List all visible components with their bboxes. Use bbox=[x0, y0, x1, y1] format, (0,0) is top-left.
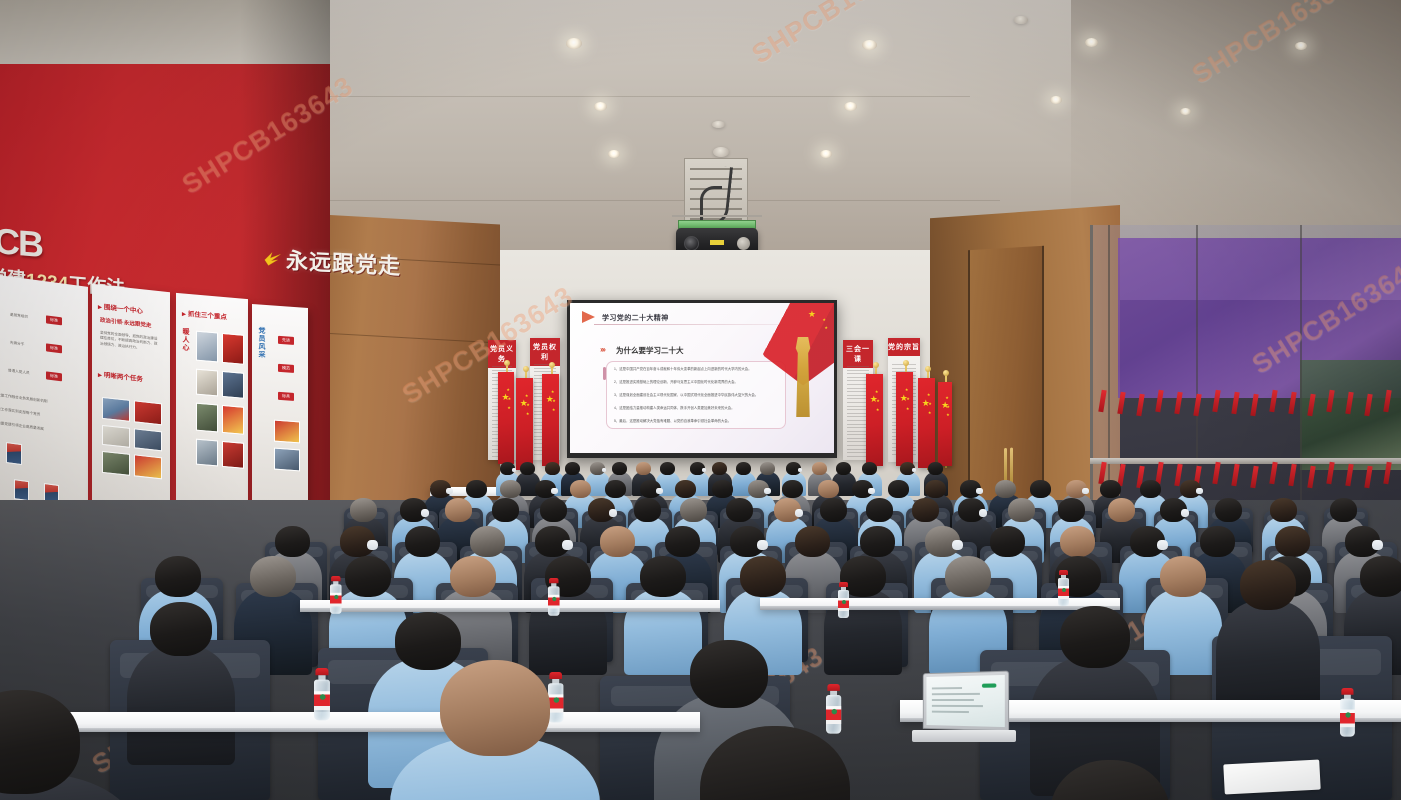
face-mask-icon bbox=[656, 488, 662, 494]
glass-handrail bbox=[1090, 458, 1401, 464]
board-members: 党员风采 先进 模范 标兵 bbox=[252, 304, 308, 516]
slide-title: 学习党的二十大精神 bbox=[602, 313, 669, 323]
flag-star-icon: ★ bbox=[906, 396, 910, 401]
person-head bbox=[605, 480, 626, 498]
board-1234-criteria: 标准 标准 标准 基层党组织 先锋分子 普通入党人员 推进党建工作融合业务发展创… bbox=[0, 273, 88, 537]
flag-star-icon: ★ bbox=[876, 407, 880, 412]
person-head bbox=[1100, 480, 1121, 498]
bottle-cap bbox=[549, 672, 562, 679]
person-head bbox=[860, 526, 895, 557]
person-head bbox=[862, 462, 877, 475]
person-head bbox=[912, 498, 939, 522]
member-portrait bbox=[14, 479, 29, 501]
projector-indicator bbox=[710, 240, 724, 245]
flag-finial-icon bbox=[943, 370, 949, 376]
flag-finial-icon bbox=[523, 366, 529, 372]
ceiling-seam bbox=[300, 200, 1000, 201]
face-mask-icon bbox=[702, 468, 707, 472]
slide-chevron-icon: »» bbox=[600, 345, 603, 354]
conference-room-photo: CB 党建1234工作法 永远跟党走 标准 标准 标准 基层党组织 先锋分子 普… bbox=[0, 0, 1401, 800]
glass-greenery-reflection bbox=[1300, 360, 1401, 470]
downlight-icon bbox=[862, 40, 877, 50]
board-label: 先锋分子 bbox=[10, 341, 24, 348]
flag-star-icon: ★ bbox=[905, 387, 909, 392]
face-mask-icon bbox=[609, 509, 617, 517]
face-mask-icon bbox=[367, 540, 378, 551]
flag-star-icon: ★ bbox=[525, 393, 529, 398]
person-head bbox=[712, 480, 733, 498]
face-mask-icon bbox=[551, 488, 557, 494]
person-head bbox=[520, 462, 535, 475]
flag-star-icon: ★ bbox=[526, 402, 530, 407]
board-pill: 标准 bbox=[46, 343, 62, 353]
board-photo bbox=[196, 331, 218, 363]
board-photo bbox=[102, 397, 130, 422]
downlight-icon bbox=[844, 102, 857, 111]
person-head bbox=[570, 480, 591, 498]
person-head bbox=[1160, 556, 1206, 597]
flag-star-icon: ★ bbox=[946, 404, 950, 409]
flag-star-icon: ★ bbox=[875, 389, 879, 394]
face-mask-icon bbox=[952, 540, 963, 551]
person-head bbox=[345, 556, 391, 597]
projector-sensor-icon bbox=[737, 237, 750, 250]
slide-title-marker-icon bbox=[582, 311, 595, 323]
person-head bbox=[1058, 498, 1085, 522]
face-mask-icon bbox=[1157, 540, 1168, 551]
board-vertical-label: 党员风采 bbox=[256, 326, 266, 359]
chinese-national-flag: ★★★★ bbox=[938, 382, 952, 466]
face-mask-icon bbox=[1082, 488, 1088, 494]
face-mask-icon bbox=[562, 540, 573, 551]
projection-screen: 学习党的二十大精神 »» 为什么要学习二十大 1、这是中国共产党在百年奋斗成就和… bbox=[570, 303, 834, 453]
board-label: 普通入党人员 bbox=[8, 368, 30, 376]
chinese-national-flag: ★★★★ bbox=[516, 378, 533, 470]
flag-star-icon: ★ bbox=[552, 407, 556, 412]
panel-title: 党的宗旨 bbox=[888, 338, 920, 356]
person-head bbox=[1030, 480, 1051, 498]
flag-star-icon: ★ bbox=[808, 309, 816, 320]
cb-logo: CB bbox=[0, 220, 42, 266]
board-slogan: 政治引领·永远跟党走 bbox=[100, 317, 151, 331]
person-head bbox=[1330, 498, 1357, 522]
person-head bbox=[1108, 498, 1135, 522]
bottle-logo-icon bbox=[1062, 588, 1066, 592]
board-photo bbox=[196, 369, 218, 397]
person-head bbox=[540, 498, 567, 522]
person-head bbox=[1360, 556, 1401, 597]
screen-text-line bbox=[932, 699, 974, 701]
screen-text-line bbox=[932, 711, 968, 713]
ceiling-seam bbox=[330, 96, 970, 97]
cpc-emblem-icon bbox=[262, 248, 284, 270]
board-photo bbox=[134, 400, 162, 425]
slide-bullet: 4、这是团结力量推动构建人类命运共同体、携手开创人类更加美好未来的大会。 bbox=[614, 406, 735, 411]
board-heading: 围绕一个中心 bbox=[98, 300, 143, 315]
face-mask-icon bbox=[1196, 488, 1202, 494]
table-edge bbox=[760, 606, 1120, 610]
person-head bbox=[740, 556, 786, 597]
person-head bbox=[1240, 560, 1296, 610]
bottle-logo-icon bbox=[553, 697, 559, 703]
person-torso bbox=[1216, 600, 1320, 716]
person-head bbox=[836, 462, 851, 475]
person-head bbox=[1060, 606, 1130, 668]
face-mask-icon bbox=[1181, 509, 1189, 517]
board-heading: 抓住三个重点 bbox=[182, 307, 227, 321]
flag-star-icon: ★ bbox=[928, 410, 932, 415]
board-pill: 标准 bbox=[46, 315, 62, 325]
bottle-logo-icon bbox=[319, 693, 325, 699]
member-portrait bbox=[6, 442, 22, 465]
person-head bbox=[1008, 498, 1035, 522]
flag-finial-icon bbox=[925, 366, 931, 372]
person-head bbox=[450, 556, 496, 597]
projector-support-arm bbox=[672, 215, 762, 217]
panel-title: 党员权利 bbox=[530, 338, 560, 366]
board-photo bbox=[196, 403, 218, 433]
slide-bullet: 3、这是谋划全面建设社会主义现代化国家、以中国式现代化全面推进中华民族伟大复兴的… bbox=[614, 393, 758, 398]
board-text: 以高质量党建引领企业高质量发展 bbox=[0, 420, 44, 432]
table-edge bbox=[300, 608, 720, 612]
person-head bbox=[888, 480, 909, 498]
person-head bbox=[565, 462, 580, 475]
board-photo bbox=[222, 333, 244, 365]
bottle-cap bbox=[827, 684, 839, 691]
downlight-icon bbox=[1295, 42, 1307, 50]
ceiling-shadow-right bbox=[1071, 0, 1401, 250]
chinese-national-flag: ★★★★ bbox=[896, 372, 913, 466]
panel-title: 党员义务 bbox=[488, 340, 516, 368]
flag-finial-icon bbox=[549, 362, 555, 368]
bottle-cap bbox=[1341, 688, 1353, 695]
board-pill: 标兵 bbox=[278, 392, 294, 401]
laptop-screen bbox=[926, 675, 1004, 727]
person-head bbox=[690, 640, 768, 708]
flag-star-icon: ★ bbox=[552, 398, 556, 403]
board-body-text: 坚持党的全面领导，把党的政治建设摆在首位，不断提高政治判断力、政治领悟力、政治执… bbox=[100, 331, 158, 353]
person-head bbox=[928, 462, 943, 475]
face-mask-icon bbox=[976, 488, 982, 494]
person-head bbox=[760, 462, 775, 475]
board-photo bbox=[134, 428, 162, 451]
person-head bbox=[726, 498, 753, 522]
board-text: 推进党建工作融合业务发展创新机制 bbox=[0, 392, 48, 405]
face-mask-icon bbox=[764, 488, 770, 494]
slide-subtitle: 为什么要学习二十大 bbox=[616, 345, 684, 356]
person-head bbox=[612, 462, 627, 475]
board-pill: 模范 bbox=[278, 364, 294, 373]
flag-star-icon: ★ bbox=[946, 412, 950, 417]
smoke-detector-icon bbox=[713, 147, 729, 157]
person-head bbox=[150, 602, 212, 656]
person-head bbox=[812, 462, 827, 475]
screen-text-line bbox=[932, 687, 962, 689]
downlight-icon bbox=[608, 150, 620, 158]
person-head bbox=[736, 462, 751, 475]
slide-box-tab bbox=[603, 367, 606, 380]
person-head bbox=[636, 462, 651, 475]
flag-star-icon: ★ bbox=[507, 405, 511, 410]
person-head bbox=[250, 556, 296, 597]
face-mask-icon bbox=[446, 488, 452, 494]
flag-star-icon: ★ bbox=[927, 392, 931, 397]
face-mask-icon bbox=[912, 468, 917, 472]
conference-table bbox=[0, 712, 700, 732]
person-head bbox=[445, 498, 472, 522]
bottle-logo-icon bbox=[334, 594, 338, 598]
board-photo bbox=[274, 448, 300, 472]
person-head bbox=[990, 526, 1025, 557]
person-head bbox=[1140, 480, 1161, 498]
person-head bbox=[545, 462, 560, 475]
screen-text-line bbox=[932, 693, 980, 695]
board-photo bbox=[222, 441, 244, 469]
flag-finial-icon bbox=[903, 360, 909, 366]
person-head bbox=[492, 498, 519, 522]
board-pill: 标准 bbox=[46, 371, 62, 381]
person-head bbox=[600, 526, 635, 557]
downlight-icon bbox=[1180, 108, 1191, 115]
flag-star-icon: ★ bbox=[506, 387, 510, 392]
person-head bbox=[795, 526, 830, 557]
person-head bbox=[1215, 498, 1242, 522]
person-head bbox=[470, 526, 505, 557]
table-edge bbox=[0, 728, 700, 732]
person-head bbox=[866, 498, 893, 522]
bottle-cap bbox=[315, 668, 328, 675]
door[interactable] bbox=[968, 246, 1044, 509]
bottle-logo-icon bbox=[842, 600, 846, 604]
face-mask-icon bbox=[795, 509, 803, 517]
smoke-detector-icon bbox=[1014, 16, 1028, 24]
projector-lens-icon bbox=[684, 236, 699, 251]
board-label: 基层党组织 bbox=[10, 313, 28, 321]
board-three-focus: 抓住三个重点 暖人心 bbox=[176, 293, 248, 525]
person-head bbox=[275, 526, 310, 557]
panel-title: 三会一课 bbox=[843, 340, 873, 368]
person-head bbox=[634, 498, 661, 522]
flag-star-icon: ★ bbox=[526, 411, 530, 416]
bottle-logo-icon bbox=[1345, 712, 1350, 717]
flag-star-icon: ★ bbox=[906, 406, 910, 411]
person-head bbox=[945, 556, 991, 597]
person-head bbox=[405, 526, 440, 557]
person-head bbox=[675, 480, 696, 498]
person-head bbox=[995, 480, 1016, 498]
screen-text-line bbox=[932, 705, 983, 707]
board-photo bbox=[196, 439, 218, 467]
flag-finial-icon bbox=[873, 362, 879, 368]
board-photo bbox=[222, 405, 244, 435]
person-head bbox=[350, 498, 377, 522]
bottle-logo-icon bbox=[831, 708, 837, 714]
downlight-icon bbox=[1050, 96, 1062, 104]
face-mask-icon bbox=[979, 509, 987, 517]
face-mask-icon bbox=[757, 540, 768, 551]
chinese-national-flag: ★★★★ bbox=[866, 374, 883, 466]
face-mask-icon bbox=[602, 468, 607, 472]
face-mask-icon bbox=[868, 488, 874, 494]
board-photo bbox=[102, 451, 130, 476]
flag-star-icon: ★ bbox=[508, 396, 512, 401]
person-head bbox=[440, 660, 550, 756]
person-torso bbox=[127, 645, 235, 765]
person-head bbox=[665, 526, 700, 557]
flag-star-icon: ★ bbox=[551, 389, 555, 394]
person-head bbox=[925, 480, 946, 498]
person-head bbox=[820, 498, 847, 522]
face-mask-icon bbox=[512, 468, 517, 472]
person-head bbox=[395, 612, 461, 670]
board-pill: 先进 bbox=[278, 336, 294, 345]
board-vertical-label: 暖人心 bbox=[180, 327, 190, 352]
person-head bbox=[155, 556, 201, 597]
person-head bbox=[466, 480, 487, 498]
flag-star-icon: ★ bbox=[928, 401, 932, 406]
chinese-national-flag: ★★★★ bbox=[542, 374, 559, 466]
face-mask-icon bbox=[421, 509, 429, 517]
board-photo bbox=[222, 371, 244, 399]
board-heading: 明晰两个任务 bbox=[98, 368, 143, 383]
person-head bbox=[640, 556, 686, 597]
chinese-national-flag: ★★★★ bbox=[498, 372, 514, 464]
person-head bbox=[500, 480, 521, 498]
face-mask-icon bbox=[1372, 540, 1383, 551]
person-head bbox=[1275, 526, 1310, 557]
face-mask-icon bbox=[798, 468, 803, 472]
person-head bbox=[712, 462, 727, 475]
downlight-icon bbox=[594, 102, 607, 111]
person-head bbox=[680, 498, 707, 522]
conference-table bbox=[300, 600, 720, 612]
slide-bullet: 1、这是中国共产党在百年奋斗成就和十年伟大变革的新起点上向进新的时代大学内的大会… bbox=[614, 367, 752, 372]
laptop-keyboard[interactable] bbox=[912, 730, 1016, 742]
smoke-detector-icon bbox=[712, 121, 725, 128]
flag-star-icon: ★ bbox=[876, 398, 880, 403]
downlight-icon bbox=[1085, 38, 1098, 47]
bottle-logo-icon bbox=[552, 596, 556, 600]
chinese-national-flag: ★★★★ bbox=[918, 378, 935, 468]
screen-button bbox=[982, 683, 997, 687]
notebook bbox=[1223, 760, 1320, 795]
laptop[interactable] bbox=[923, 671, 1009, 732]
board-one-center: 围绕一个中心 政治引领·永远跟党走 坚持党的全面领导，把党的政治建设摆在首位，不… bbox=[92, 284, 170, 528]
person-head bbox=[782, 480, 803, 498]
board-photo bbox=[102, 425, 130, 448]
flag-star-icon: ★ bbox=[824, 325, 828, 330]
board-text: 把党建工作落实到支部每个党员 bbox=[0, 406, 40, 418]
flag-star-icon: ★ bbox=[945, 395, 949, 400]
person-head bbox=[1200, 526, 1235, 557]
person-head bbox=[660, 462, 675, 475]
downlight-icon bbox=[820, 150, 832, 158]
person-head bbox=[1270, 498, 1297, 522]
flag-finial-icon bbox=[504, 360, 510, 366]
downlight-icon bbox=[566, 38, 582, 49]
board-photo bbox=[274, 420, 300, 444]
person-head bbox=[1060, 526, 1095, 557]
slide-bullet: 5、最后，这是推动解决大党独有难题、以党的自我革命引领社会革命的大会。 bbox=[614, 419, 731, 424]
board-photo bbox=[134, 454, 162, 479]
person-head bbox=[818, 480, 839, 498]
slide-bullet: 2、这是推进实践基础上的理论创新、开辟马克思主义中国化时代化新境界的大会。 bbox=[614, 380, 738, 385]
flag-star-icon: ★ bbox=[822, 317, 826, 322]
party-slogan: 永远跟党走 bbox=[286, 243, 401, 281]
